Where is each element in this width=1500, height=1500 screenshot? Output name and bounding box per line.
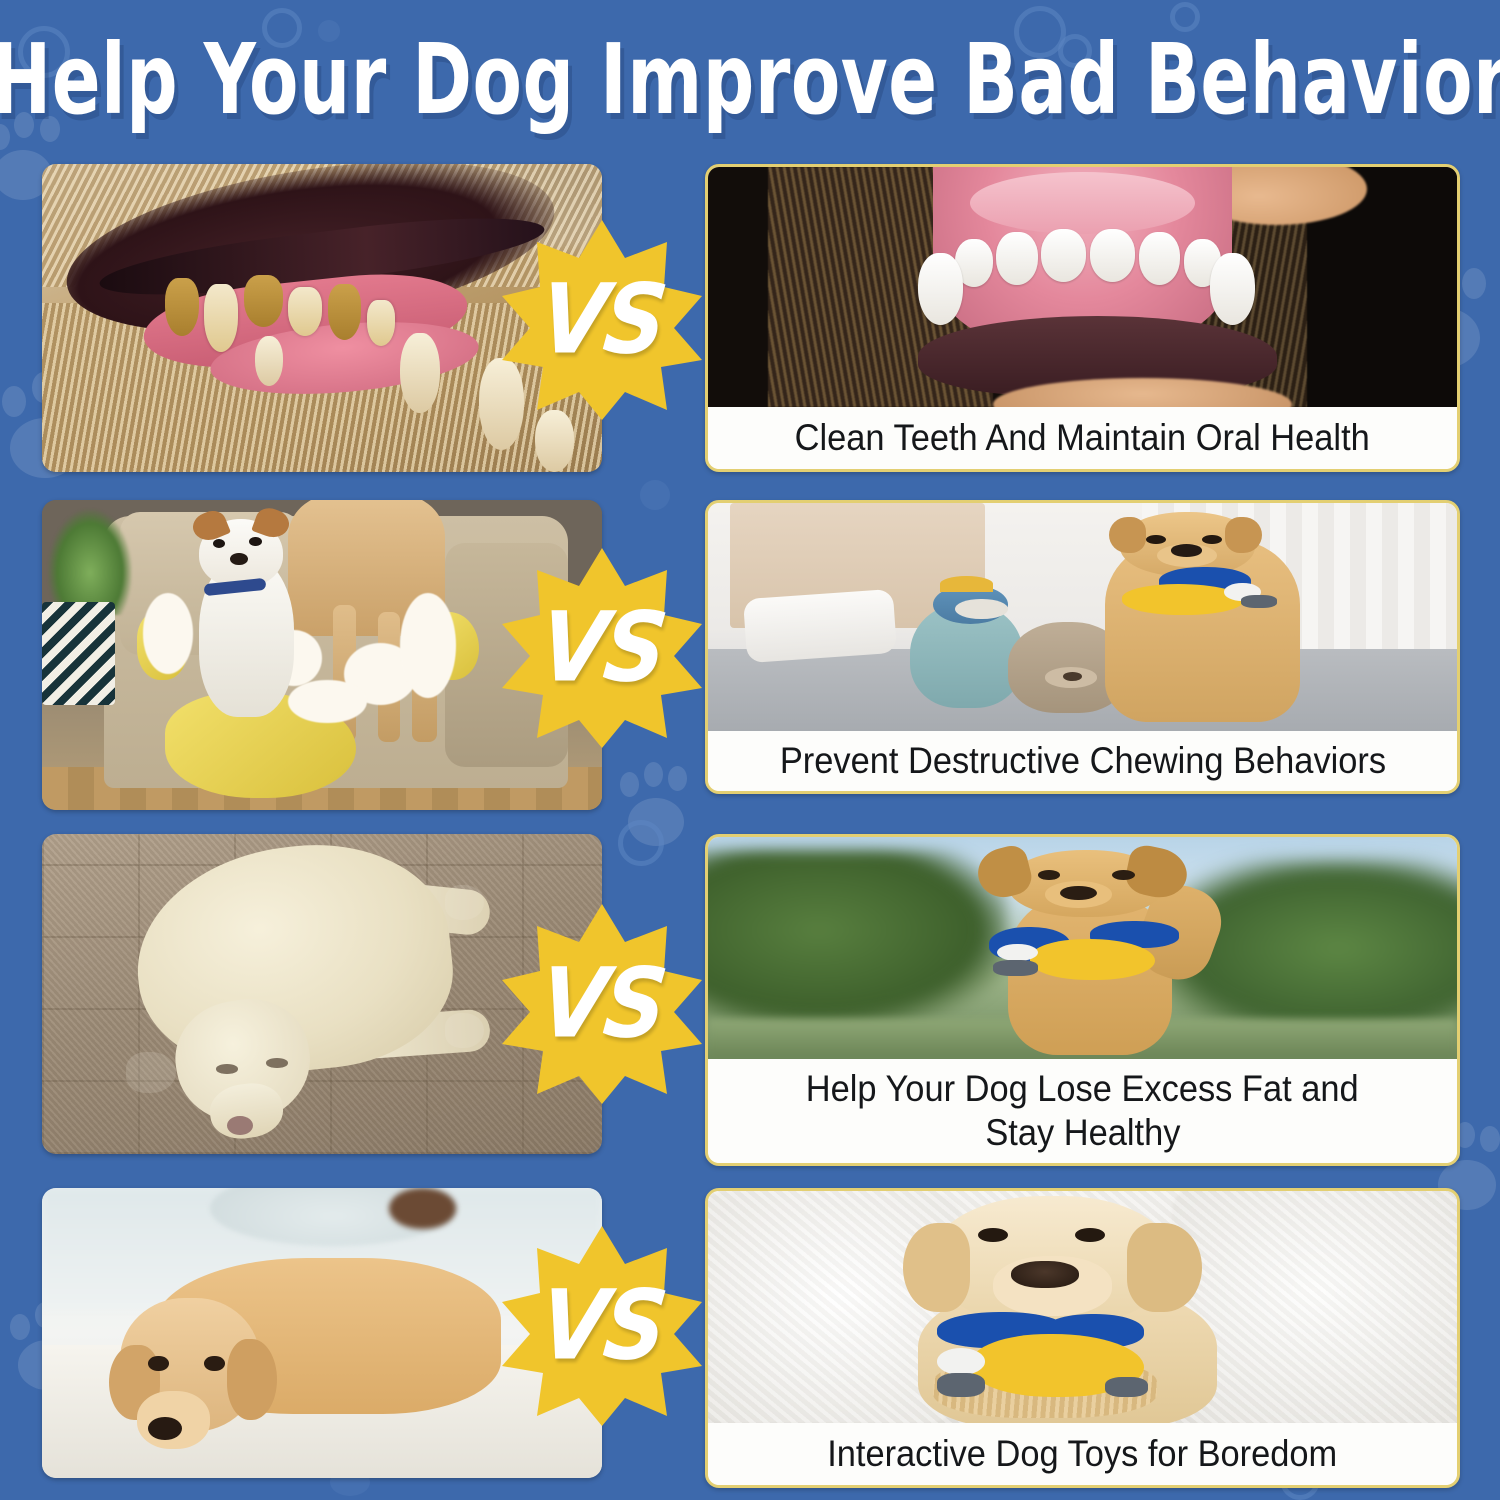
page-title: Help Your Dog Improve Bad Behavior bbox=[0, 22, 1500, 135]
vs-badge: VS bbox=[502, 1226, 702, 1426]
caption-text-line-1: Help Your Dog Lose Excess Fat and bbox=[806, 1067, 1359, 1111]
caption-text: Interactive Dog Toys for Boredom bbox=[827, 1432, 1337, 1476]
caption-text: Clean Teeth And Maintain Oral Health bbox=[795, 416, 1370, 460]
comparison-rows: VS bbox=[0, 158, 1500, 1500]
vs-label: VS bbox=[536, 600, 669, 696]
comparison-row-oral-health: VS bbox=[0, 158, 1500, 490]
after-card: Prevent Destructive Chewing Behaviors bbox=[705, 500, 1460, 794]
after-photo-dog-with-toys bbox=[708, 503, 1457, 731]
vs-label: VS bbox=[536, 272, 669, 368]
caption-oral-health: Clean Teeth And Maintain Oral Health bbox=[708, 407, 1457, 469]
bird-toy bbox=[985, 921, 1187, 988]
comparison-row-excess-weight: VS bbox=[0, 826, 1500, 1176]
caption-text-line-2: Stay Healthy bbox=[985, 1111, 1180, 1155]
bird-toy bbox=[1112, 567, 1277, 622]
after-photo-clean-teeth bbox=[708, 167, 1457, 407]
bird-toy bbox=[933, 1312, 1173, 1414]
caption-destructive-chewing: Prevent Destructive Chewing Behaviors bbox=[708, 731, 1457, 791]
vs-label: VS bbox=[536, 956, 669, 1052]
vs-badge: VS bbox=[502, 220, 702, 420]
title-bar: Help Your Dog Improve Bad Behavior bbox=[0, 0, 1500, 158]
after-photo-dog-with-toucan-toy bbox=[708, 1191, 1457, 1423]
vs-badge: VS bbox=[502, 548, 702, 748]
after-card: Interactive Dog Toys for Boredom bbox=[705, 1188, 1460, 1488]
after-card: Help Your Dog Lose Excess Fat and Stay H… bbox=[705, 834, 1460, 1166]
after-card: Clean Teeth And Maintain Oral Health bbox=[705, 164, 1460, 472]
caption-excess-weight: Help Your Dog Lose Excess Fat and Stay H… bbox=[708, 1059, 1457, 1163]
vs-label: VS bbox=[536, 1278, 669, 1374]
vs-badge: VS bbox=[502, 904, 702, 1104]
caption-boredom: Interactive Dog Toys for Boredom bbox=[708, 1423, 1457, 1485]
comparison-row-boredom: VS bbox=[0, 1176, 1500, 1500]
caption-text: Prevent Destructive Chewing Behaviors bbox=[779, 739, 1385, 783]
comparison-row-destructive-chewing: VS bbox=[0, 490, 1500, 826]
after-photo-dog-running bbox=[708, 837, 1457, 1059]
